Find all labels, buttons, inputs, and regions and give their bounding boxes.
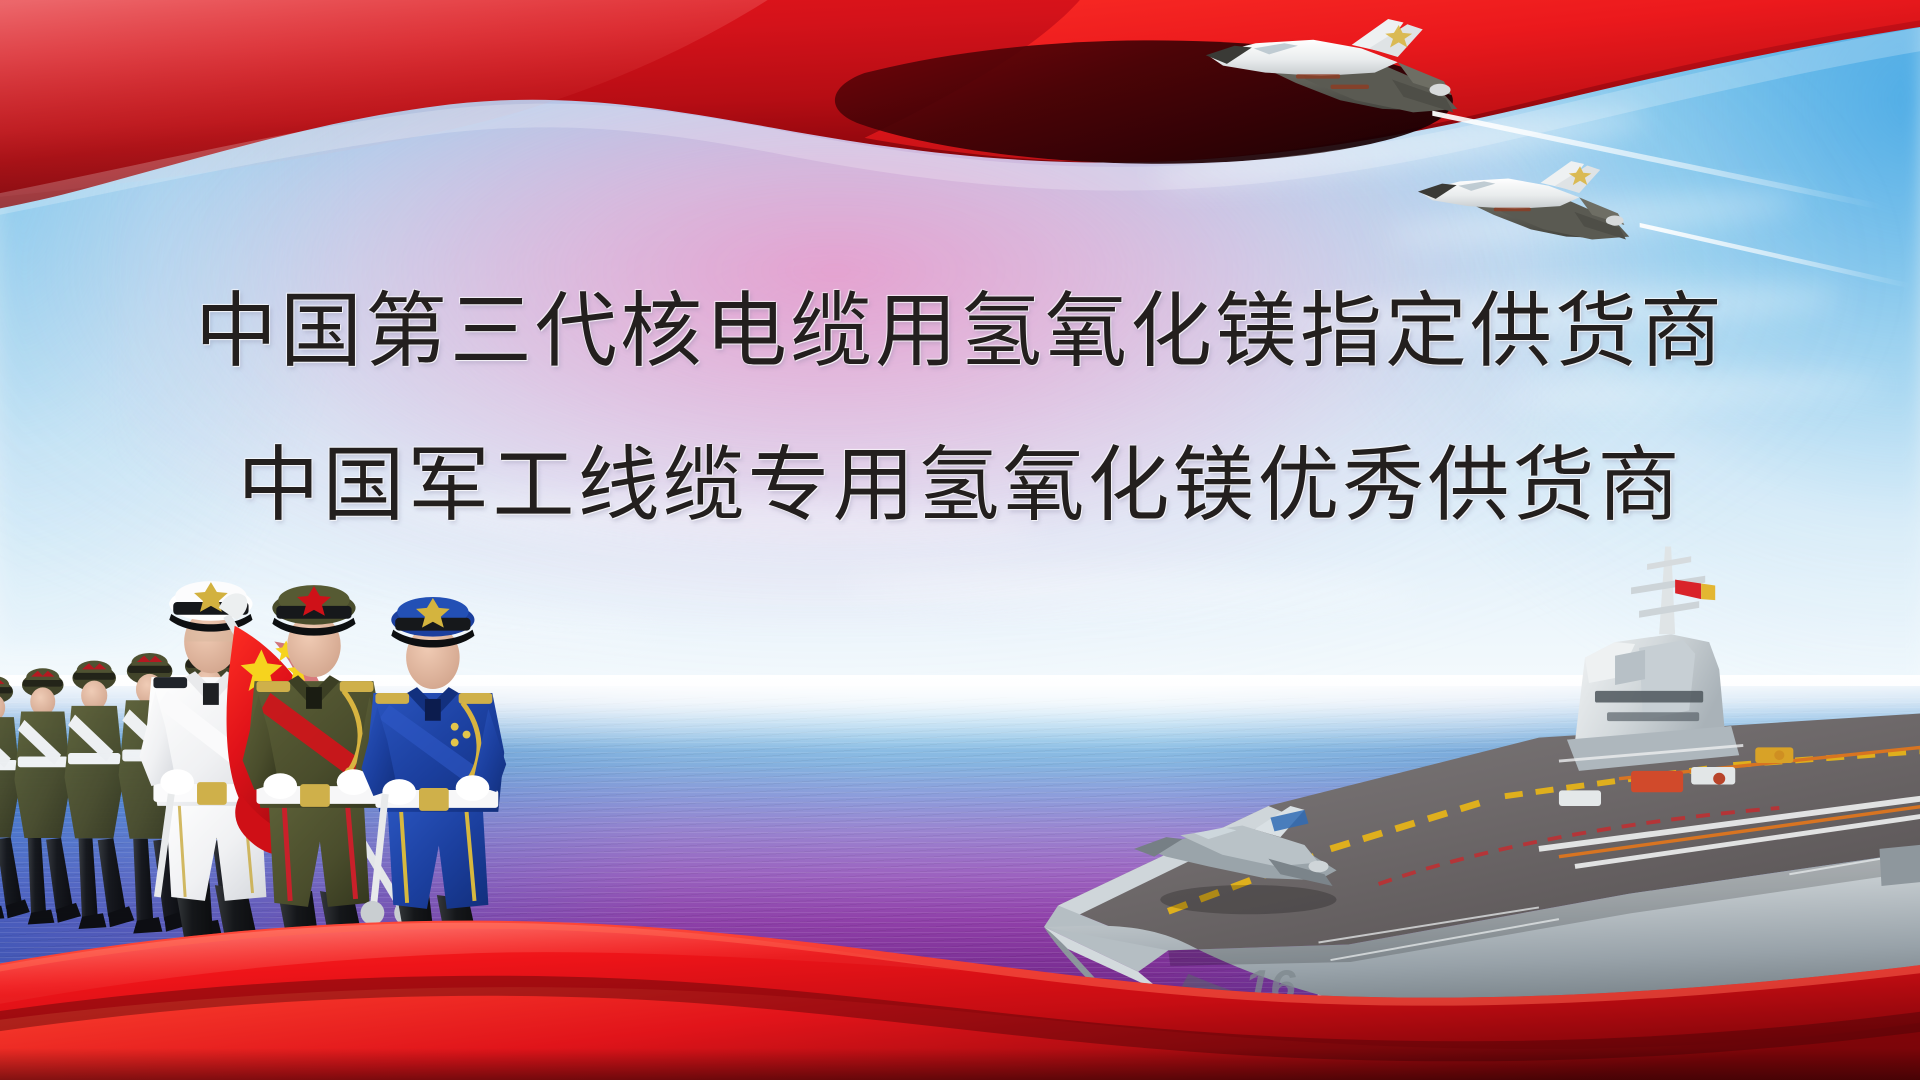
- headline-line-2: 中国军工线缆专用氢氧化镁优秀供货商: [0, 430, 1920, 542]
- headline-block: 中国第三代核电缆用氢氧化镁指定供货商 中国军工线缆专用氢氧化镁优秀供货商: [0, 276, 1920, 542]
- headline-line-1: 中国第三代核电缆用氢氧化镁指定供货商: [0, 276, 1920, 388]
- carrier-island: [1559, 546, 1743, 770]
- red-silk-flag-bottom: [0, 810, 1920, 1080]
- bottom-edge-shadow: [0, 1048, 1920, 1080]
- promotional-banner: 16: [0, 0, 1920, 1080]
- fighter-jet-lead: [1206, 19, 1458, 112]
- fighter-jet-wingman: [1418, 161, 1629, 239]
